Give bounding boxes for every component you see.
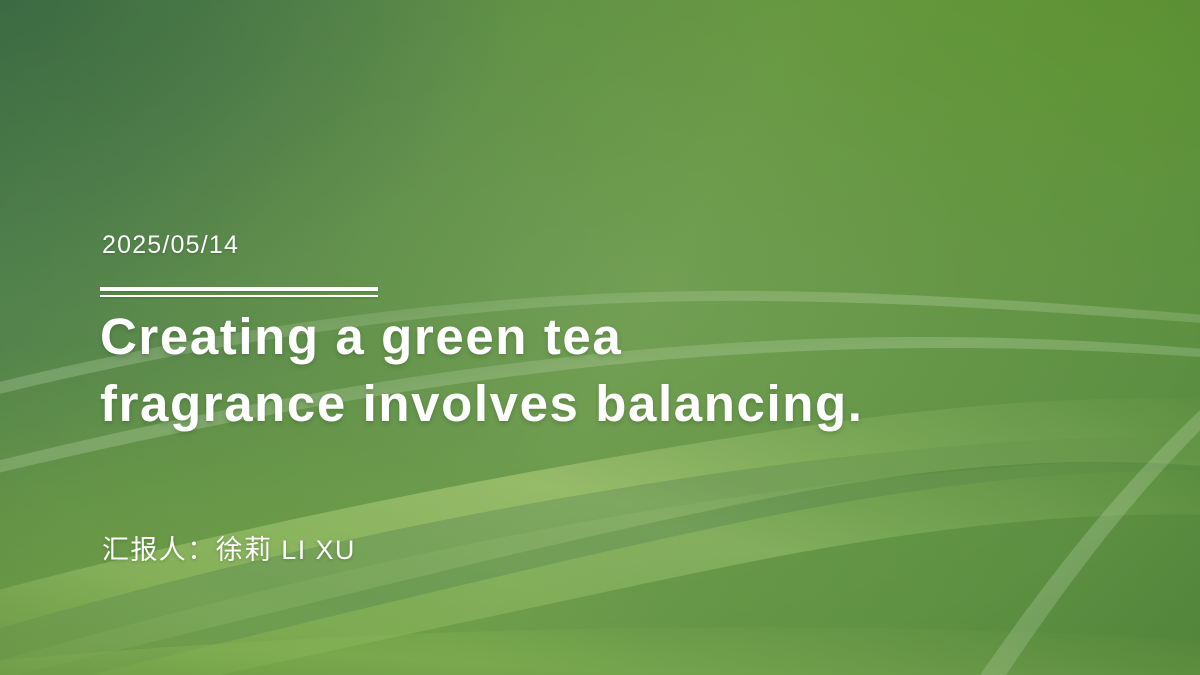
title-line-1: Creating a green tea <box>100 303 1050 370</box>
slide-content: 2025/05/14 Creating a green tea fragranc… <box>100 0 1100 675</box>
divider-rule-thick <box>100 287 378 291</box>
title-slide: 2025/05/14 Creating a green tea fragranc… <box>0 0 1200 675</box>
presenter-label: 汇报人：徐莉 LI XU <box>102 528 356 567</box>
title-divider <box>100 287 378 297</box>
slide-title: Creating a green tea fragrance involves … <box>100 303 1050 437</box>
slide-date: 2025/05/14 <box>102 231 239 260</box>
divider-rule-thin <box>100 295 378 297</box>
title-line-2: fragrance involves balancing. <box>100 370 1050 437</box>
